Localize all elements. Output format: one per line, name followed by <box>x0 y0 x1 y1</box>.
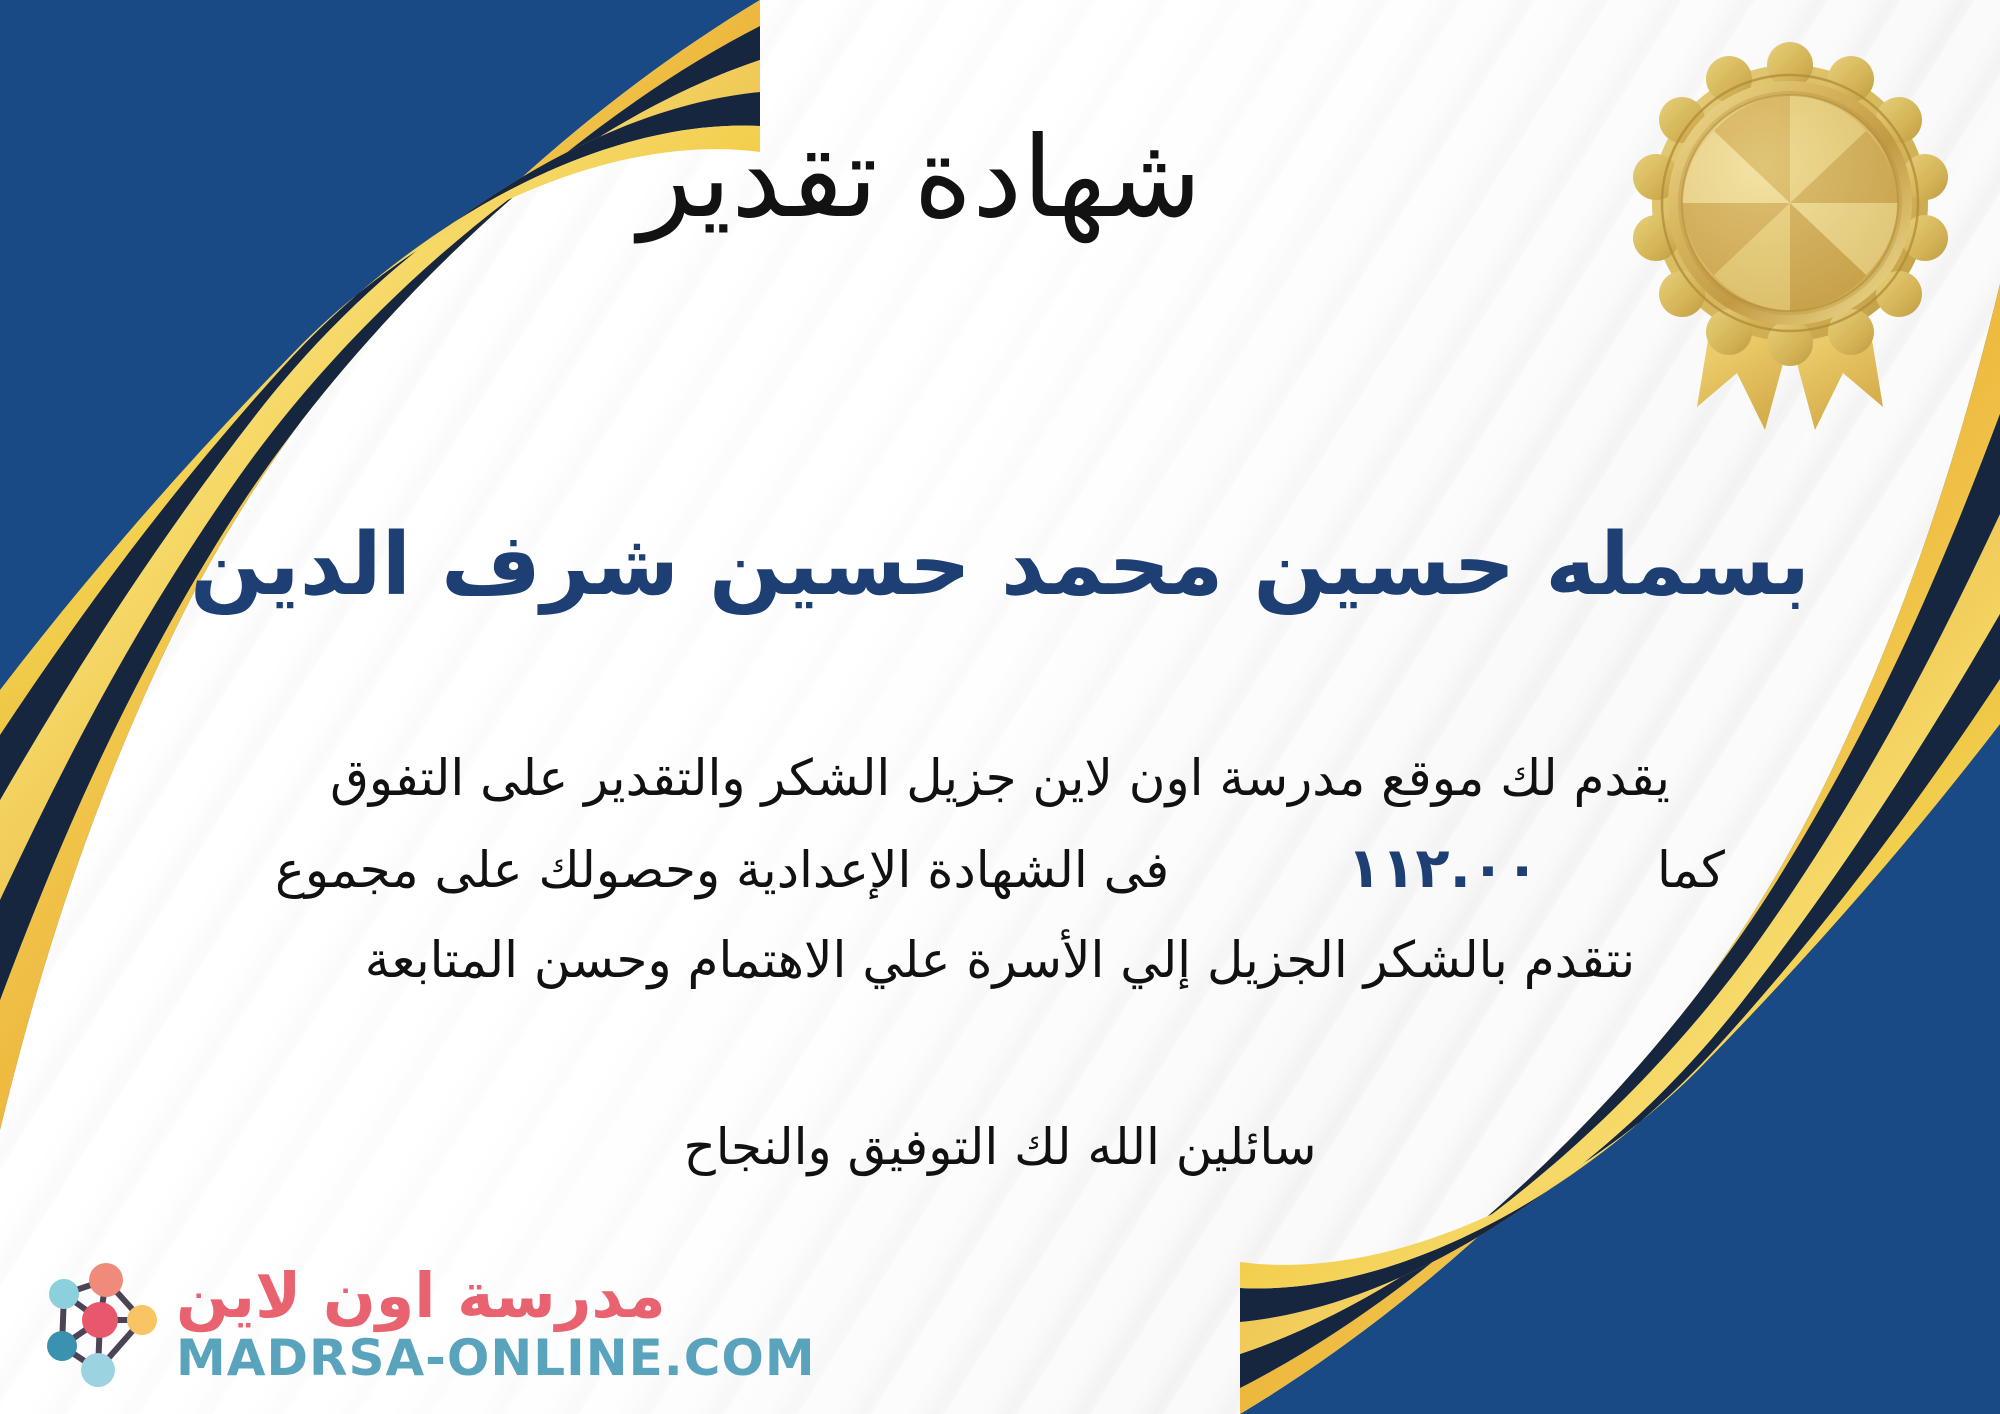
site-logo[interactable]: مدرسة اون لاين MADRSA-ONLINE.COM <box>34 1258 816 1390</box>
certificate-body: يقدم لك موقع مدرسة اون لاين جزيل الشكر و… <box>70 735 1930 1003</box>
logo-text-group: مدرسة اون لاين MADRSA-ONLINE.COM <box>176 1265 816 1383</box>
grade-total-value: ١١٢.٠٠ <box>1321 836 1565 901</box>
network-nodes-icon <box>34 1258 162 1390</box>
certificate-title: شهادة تقدير <box>0 120 2000 238</box>
certificate-canvas: شهادة تقدير بسمله حسين محمد حسين شرف الد… <box>0 0 2000 1414</box>
body-line-3: نتقدم بالشكر الجزيل إلي الأسرة علي الاهت… <box>70 917 1930 1003</box>
body-line-1: يقدم لك موقع مدرسة اون لاين جزيل الشكر و… <box>70 735 1930 821</box>
body-line-2-prefix: فى الشهادة الإعدادية وحصولك على مجموع <box>275 841 1169 899</box>
logo-domain: MADRSA-ONLINE.COM <box>176 1333 816 1383</box>
closing-wish: سائلين الله لك التوفيق والنجاح <box>0 1118 2000 1176</box>
body-line-2: كما ١١٢.٠٠ فى الشهادة الإعدادية وحصولك ع… <box>70 821 1930 917</box>
body-line-2-suffix: كما <box>1657 841 1725 899</box>
recipient-name: بسمله حسين محمد حسين شرف الدين <box>0 518 2000 613</box>
logo-arabic-name: مدرسة اون لاين <box>176 1265 666 1327</box>
